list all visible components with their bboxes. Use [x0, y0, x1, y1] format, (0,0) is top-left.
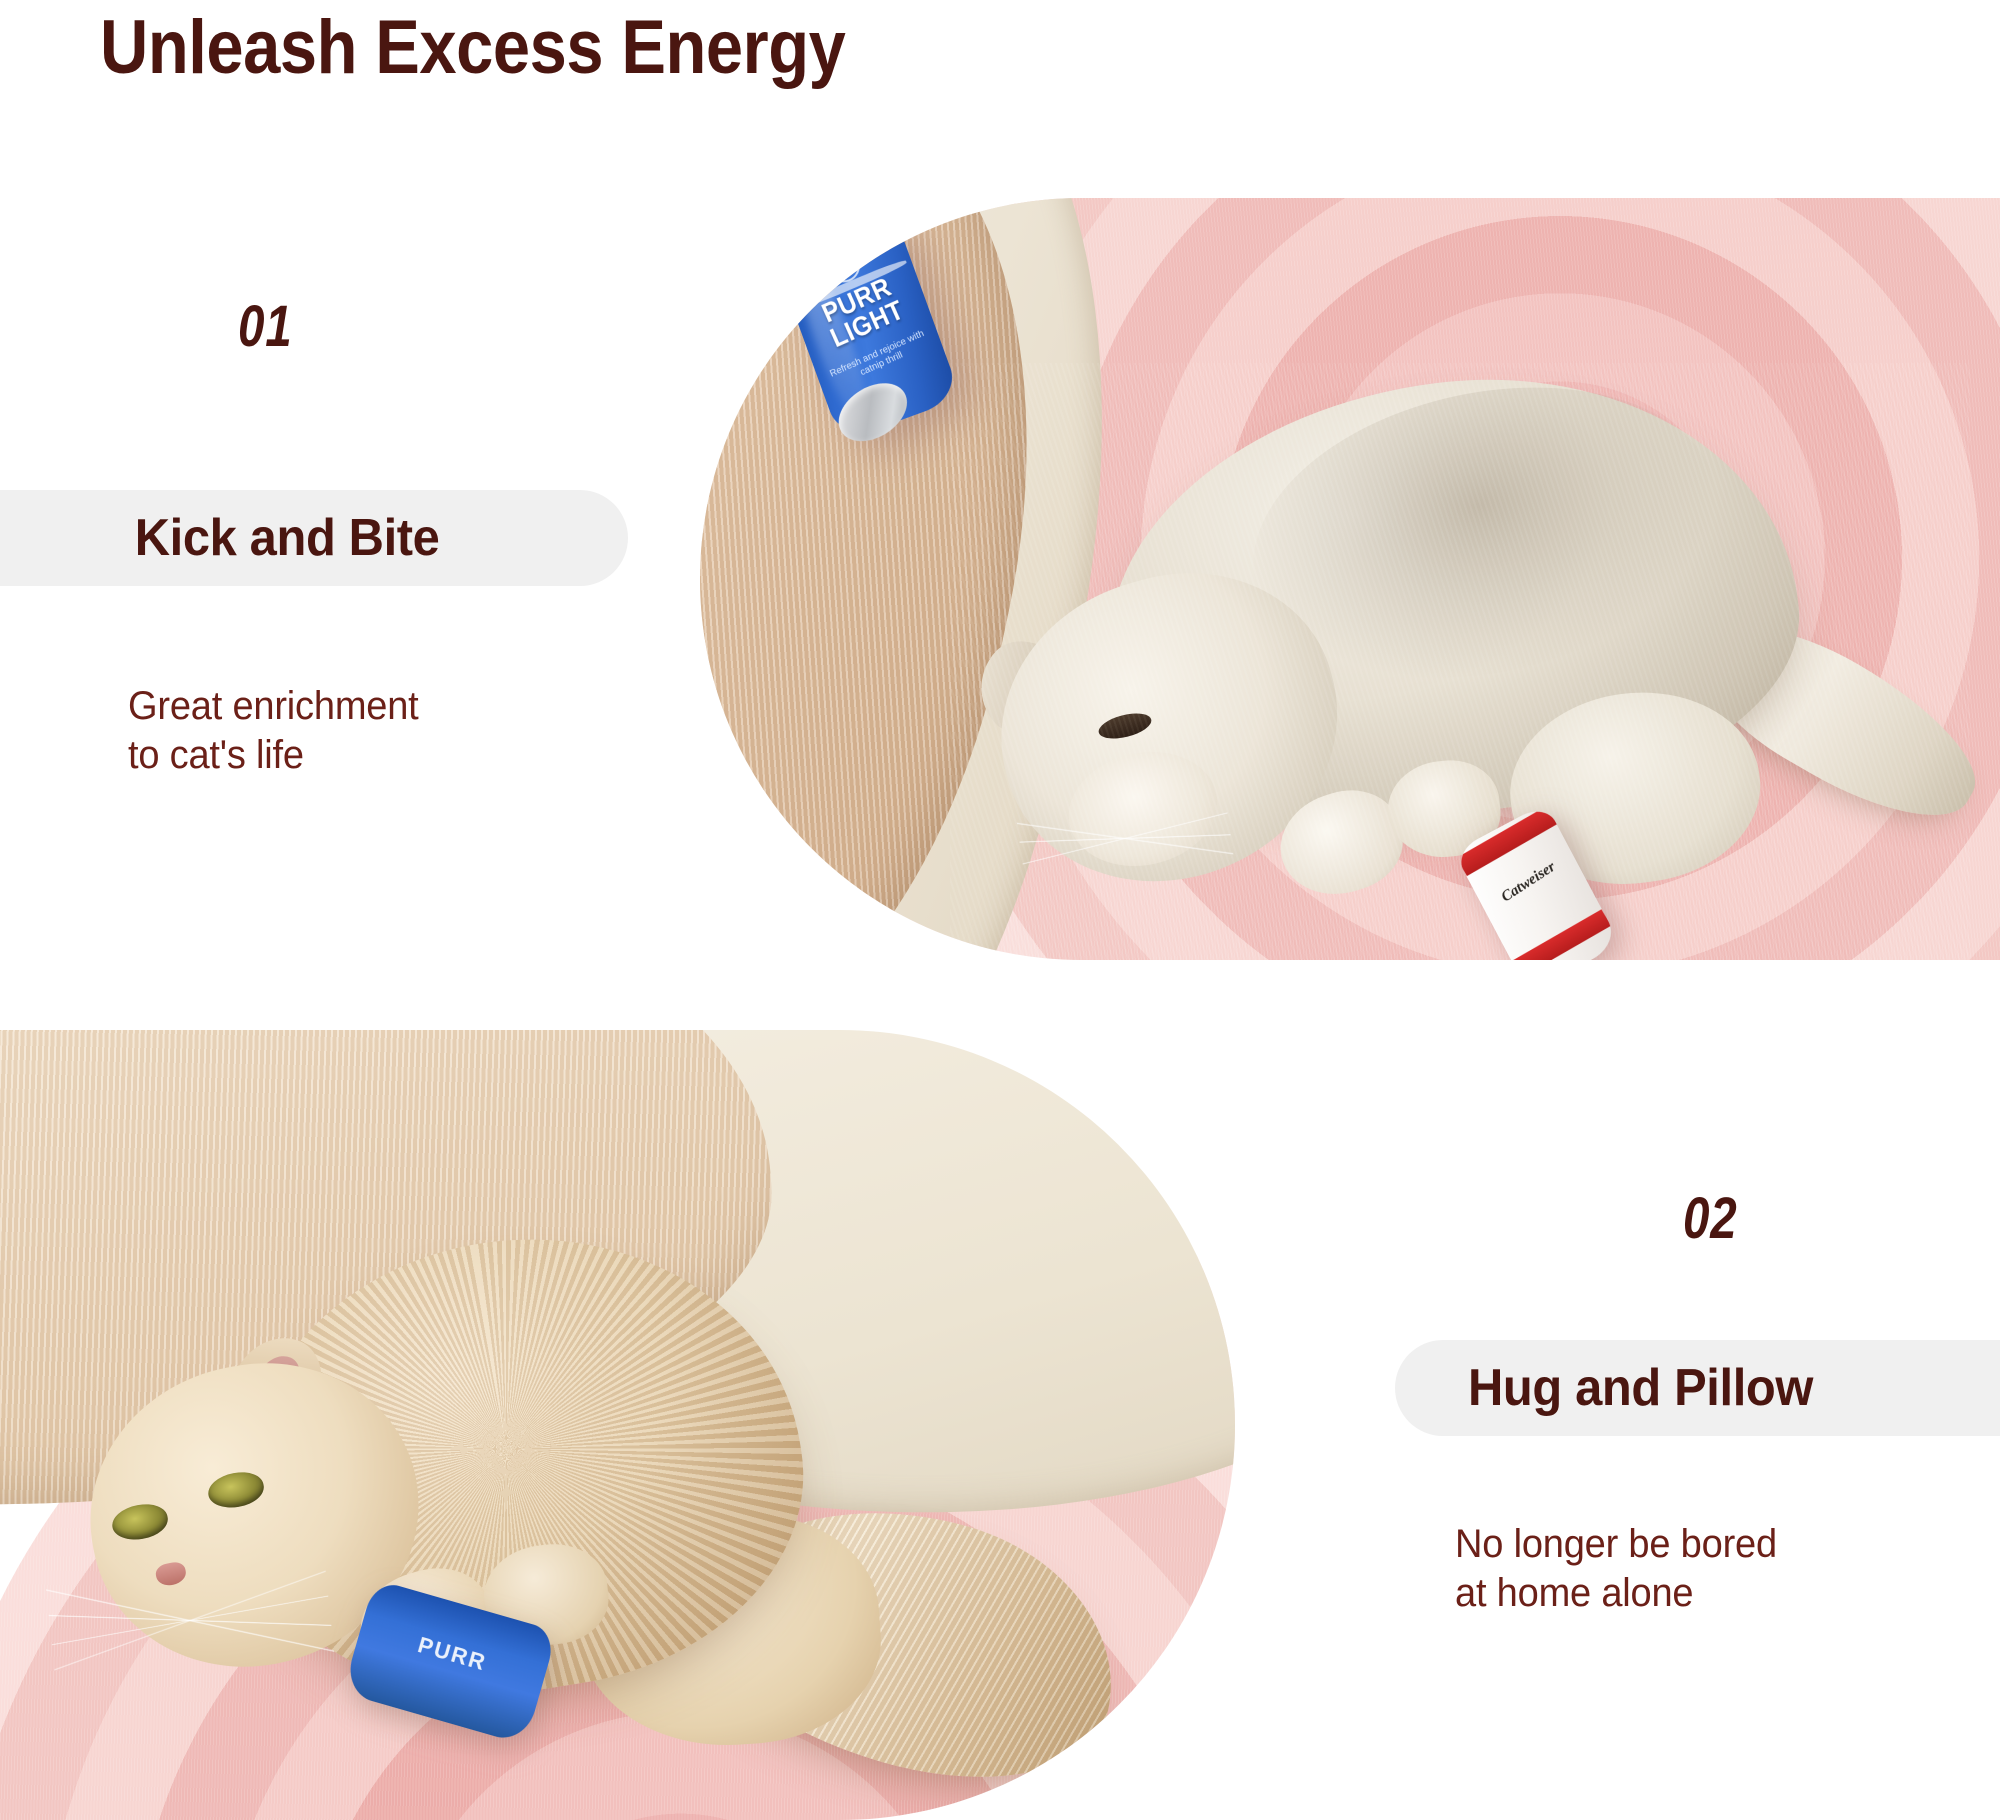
- photo-01-scene: Catweiser භ PURR LIGHT Refresh and rejoi…: [700, 198, 2000, 960]
- cat-silver-shorthair: Catweiser: [950, 363, 1970, 960]
- feature-heading-pill-01: Kick and Bite: [0, 490, 628, 586]
- step-number-02: 02: [1683, 1185, 1738, 1252]
- step-number-01: 01: [238, 293, 293, 360]
- feature-description-01: Great enrichment to cat's life: [128, 682, 419, 780]
- feature-photo-02: PURR භ Catweiser SINCE 1875: [0, 1030, 1235, 1820]
- cat-fur-texture: [950, 363, 1970, 960]
- feature-description-02: No longer be bored at home alone: [1455, 1520, 1777, 1618]
- page-title: Unleash Excess Energy: [100, 4, 845, 91]
- cat-whiskers: [44, 1541, 336, 1700]
- feature-heading-pill-02: Hug and Pillow: [1395, 1340, 2000, 1436]
- can-wordmark: PURR: [357, 1615, 547, 1692]
- can-stripe-bottom: [1511, 909, 1611, 960]
- feature-heading-label-02: Hug and Pillow: [1468, 1358, 1813, 1418]
- photo-02-scene: PURR භ Catweiser SINCE 1875: [0, 1030, 1235, 1820]
- feature-heading-label-01: Kick and Bite: [135, 508, 440, 568]
- feature-photo-01: Catweiser භ PURR LIGHT Refresh and rejoi…: [700, 198, 2000, 960]
- cat-golden-longhair: PURR: [60, 1215, 1120, 1815]
